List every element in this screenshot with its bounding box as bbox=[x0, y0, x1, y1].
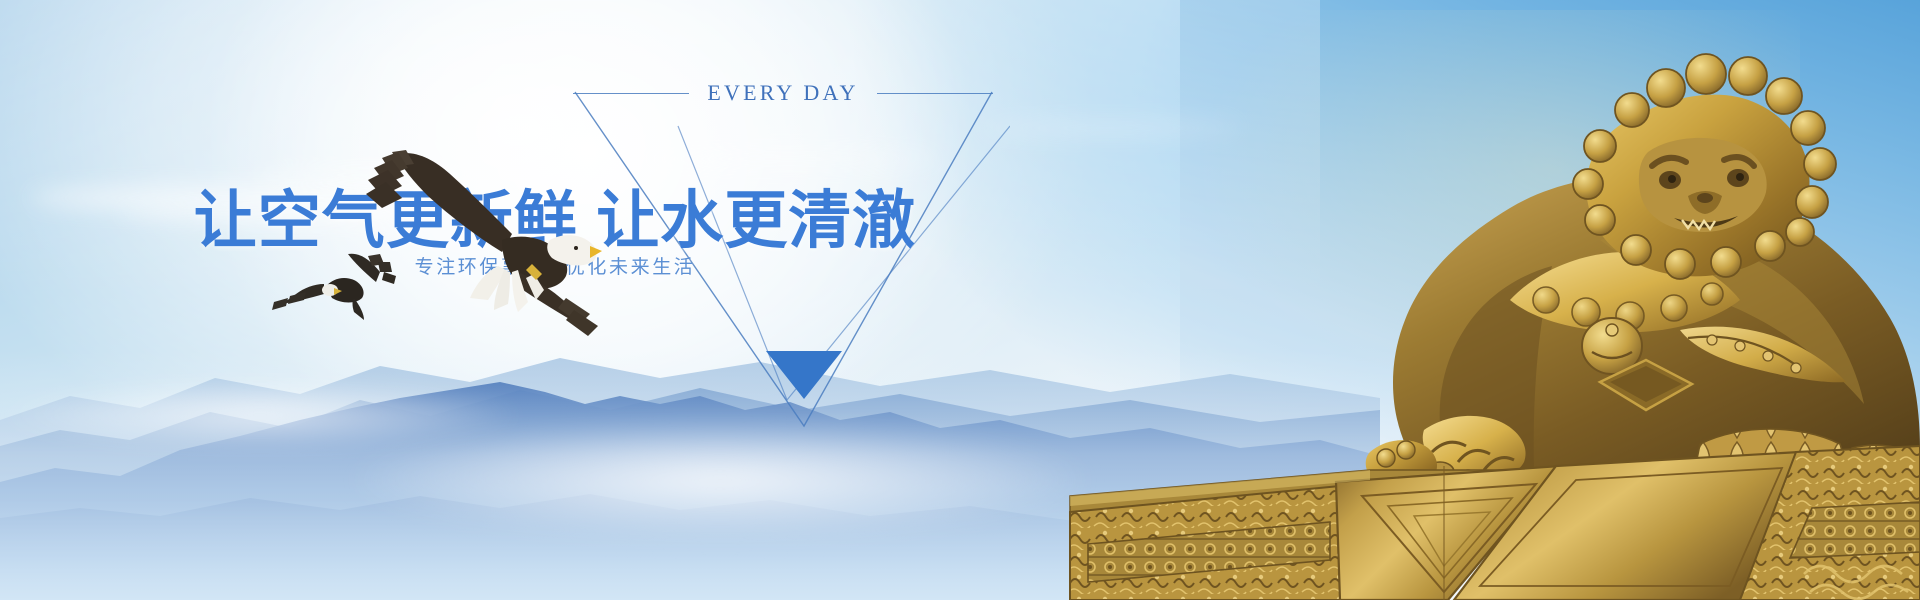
triangle-accent-fill bbox=[766, 351, 842, 399]
mountain-mist bbox=[0, 380, 520, 450]
eyebrow-row: EVERY DAY bbox=[573, 78, 993, 108]
hero-banner: EVERY DAY 让空气更新鲜 让水更清澈 专注环保事业，优化未来生活 bbox=[0, 0, 1920, 600]
bald-eagle-small bbox=[268, 250, 400, 322]
eyebrow-rule-right bbox=[877, 93, 993, 94]
chinese-guardian-lion-statue bbox=[1040, 0, 1920, 600]
eyebrow-text: EVERY DAY bbox=[707, 80, 858, 106]
eyebrow-rule-left bbox=[573, 93, 689, 94]
